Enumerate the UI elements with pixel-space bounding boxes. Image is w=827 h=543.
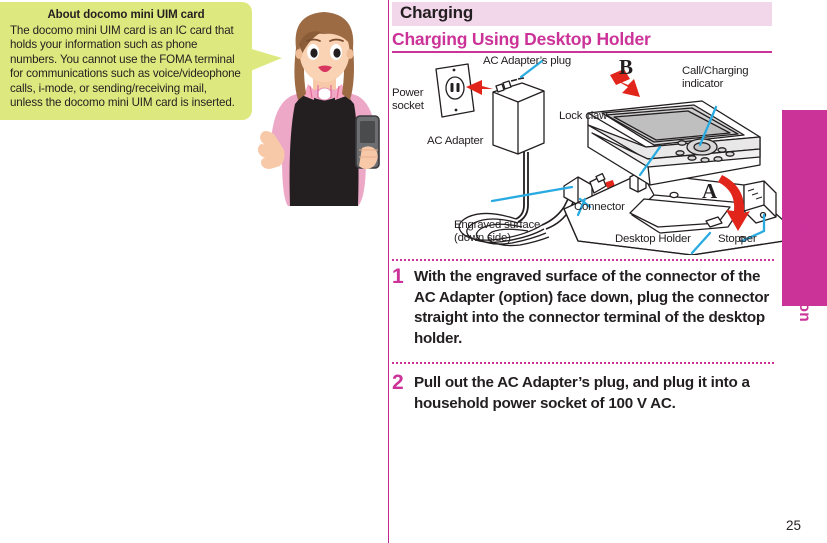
page-number: 25 bbox=[786, 518, 801, 533]
label-letter-b: B bbox=[619, 55, 633, 80]
label-engraved-surface: Engraved surface (down side) bbox=[454, 219, 540, 245]
label-ac-adapter-plug: AC Adapter’s plug bbox=[483, 55, 571, 68]
section-title: Charging Using Desktop Holder bbox=[392, 29, 651, 50]
step-1-number: 1 bbox=[392, 265, 410, 289]
step-2-text: Pull out the AC Adapter’s plug, and plug… bbox=[414, 373, 770, 414]
step-separator-top bbox=[392, 259, 774, 263]
chapter-heading-label: Charging bbox=[400, 3, 473, 23]
step-1-text: With the engraved surface of the connect… bbox=[414, 267, 770, 349]
charging-diagram: Power socket AC Adapter’s plug AC Adapte… bbox=[392, 55, 827, 255]
label-letter-a: A bbox=[702, 179, 717, 204]
step-2-number: 2 bbox=[392, 371, 410, 395]
right-column: Charging Charging Using Desktop Holder bbox=[392, 0, 827, 543]
step-separator-middle bbox=[392, 362, 774, 366]
speech-bubble-title: About docomo mini UIM card bbox=[10, 9, 242, 21]
label-ac-adapter: AC Adapter bbox=[427, 135, 483, 148]
column-divider bbox=[388, 0, 389, 543]
label-connector: Connector bbox=[574, 201, 625, 214]
woman-holding-phone-illustration bbox=[258, 8, 390, 206]
label-stopper: Stopper bbox=[718, 233, 757, 246]
label-power-socket: Power socket bbox=[392, 87, 424, 113]
label-call-charging-indicator: Call/Charging indicator bbox=[682, 65, 748, 91]
label-lock-claw: Lock claw bbox=[559, 110, 607, 123]
speech-bubble-body: The docomo mini UIM card is an IC card t… bbox=[10, 24, 242, 110]
speech-bubble: About docomo mini UIM card The docomo mi… bbox=[0, 2, 252, 120]
section-title-rule bbox=[392, 51, 772, 53]
label-desktop-holder: Desktop Holder bbox=[615, 233, 691, 246]
left-column: About docomo mini UIM card The docomo mi… bbox=[0, 0, 388, 543]
step-1: 1 With the engraved surface of the conne… bbox=[392, 265, 774, 357]
chapter-side-tab-label: Basic Operation bbox=[782, 110, 827, 306]
step-2: 2 Pull out the AC Adapter’s plug, and pl… bbox=[392, 371, 774, 443]
